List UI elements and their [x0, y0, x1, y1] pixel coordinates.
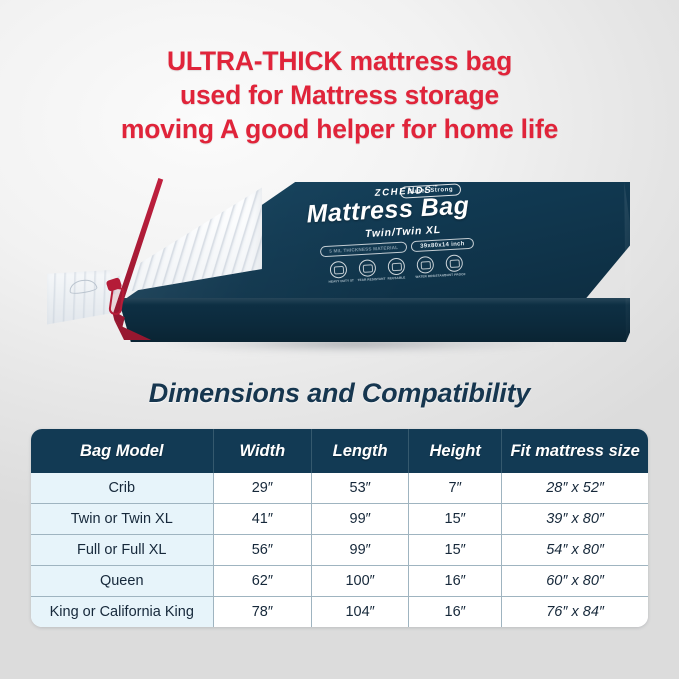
table-row: Crib 29″ 53″ 7″ 28″ x 52″	[31, 473, 648, 504]
heavy-duty-icon	[329, 261, 347, 279]
dimensions-table: Bag Model Width Length Height Fit mattre…	[31, 429, 648, 627]
column-header-height: Height	[409, 429, 502, 473]
cell-length: 53″	[312, 473, 409, 504]
section-title: Dimensions and Compatibility	[0, 378, 679, 409]
table-header: Bag Model Width Length Height Fit mattre…	[31, 429, 648, 473]
column-header-length: Length	[312, 429, 409, 473]
reusable-label: REUSABLE	[386, 276, 406, 281]
product-infographic: ULTRA-THICK mattress bag used for Mattre…	[0, 0, 679, 679]
table-row: King or California King 78″ 104″ 16″ 76″…	[31, 597, 648, 628]
cell-height: 16″	[409, 597, 502, 628]
thickness-pill: 5 MIL THICKNESS MATERIAL	[320, 242, 407, 258]
dust-proof-label: DUST PROOF	[444, 272, 464, 277]
headline-line-3: moving A good helper for home life	[0, 112, 679, 146]
zipper	[100, 178, 180, 340]
cell-model: Twin or Twin XL	[31, 504, 213, 535]
table-body: Crib 29″ 53″ 7″ 28″ x 52″ Twin or Twin X…	[31, 473, 648, 627]
reusable-icon	[387, 258, 405, 276]
zipper-pull-icon	[108, 286, 125, 316]
column-header-fit-mattress-size: Fit mattress size	[502, 429, 648, 473]
cell-width: 29″	[213, 473, 312, 504]
cell-model: Full or Full XL	[31, 535, 213, 566]
feature-dust-proof: DUST PROOF	[443, 254, 464, 277]
cell-model: King or California King	[31, 597, 213, 628]
cell-width: 78″	[213, 597, 312, 628]
feature-reusable: REUSABLE	[385, 258, 406, 281]
cell-width: 41″	[213, 504, 312, 535]
feature-heavy-duty: HEAVY DUTY 5T	[327, 261, 348, 284]
cell-length: 99″	[312, 504, 409, 535]
size-pill: 39x80x14 inch	[411, 238, 474, 252]
cell-width: 56″	[213, 535, 312, 566]
cell-model: Queen	[31, 566, 213, 597]
cell-model: Crib	[31, 473, 213, 504]
cell-length: 99″	[312, 535, 409, 566]
cell-height: 7″	[409, 473, 502, 504]
feature-tear-resistant: TEAR RESISTANT	[356, 259, 377, 282]
product-image: Super Strong ZCHENDS™ Mattress Bag Twin/…	[0, 170, 679, 370]
cell-fit: 39″ x 80″	[502, 504, 648, 535]
dust-proof-icon	[445, 254, 463, 272]
cell-height: 15″	[409, 535, 502, 566]
headline-line-2: used for Mattress storage	[0, 78, 679, 112]
tear-resistant-icon	[358, 259, 376, 277]
cell-length: 104″	[312, 597, 409, 628]
table-header-row: Bag Model Width Length Height Fit mattre…	[31, 429, 648, 473]
headline: ULTRA-THICK mattress bag used for Mattre…	[0, 44, 679, 146]
table-row: Queen 62″ 100″ 16″ 60″ x 80″	[31, 566, 648, 597]
zipper-track	[100, 178, 180, 340]
cell-fit: 60″ x 80″	[502, 566, 648, 597]
zipper-track-lower	[100, 178, 180, 340]
cell-fit: 76″ x 84″	[502, 597, 648, 628]
feature-water-resistant: WATER RESISTANT	[414, 256, 435, 279]
cell-width: 62″	[213, 566, 312, 597]
trademark-symbol: ™	[432, 184, 438, 190]
column-header-bag-model: Bag Model	[31, 429, 213, 473]
column-header-width: Width	[213, 429, 312, 473]
bag-label: Super Strong ZCHENDS™ Mattress Bag Twin/…	[248, 186, 528, 280]
dimensions-table-container: Bag Model Width Length Height Fit mattre…	[31, 429, 648, 627]
cell-length: 100″	[312, 566, 409, 597]
table-row: Full or Full XL 56″ 99″ 15″ 54″ x 80″	[31, 535, 648, 566]
water-resistant-label: WATER RESISTANT	[415, 274, 435, 279]
cell-height: 16″	[409, 566, 502, 597]
table-row: Twin or Twin XL 41″ 99″ 15″ 39″ x 80″	[31, 504, 648, 535]
water-resistant-icon	[416, 256, 434, 274]
cell-fit: 54″ x 80″	[502, 535, 648, 566]
headline-line-1: ULTRA-THICK mattress bag	[0, 44, 679, 78]
cell-fit: 28″ x 52″	[502, 473, 648, 504]
cell-height: 15″	[409, 504, 502, 535]
